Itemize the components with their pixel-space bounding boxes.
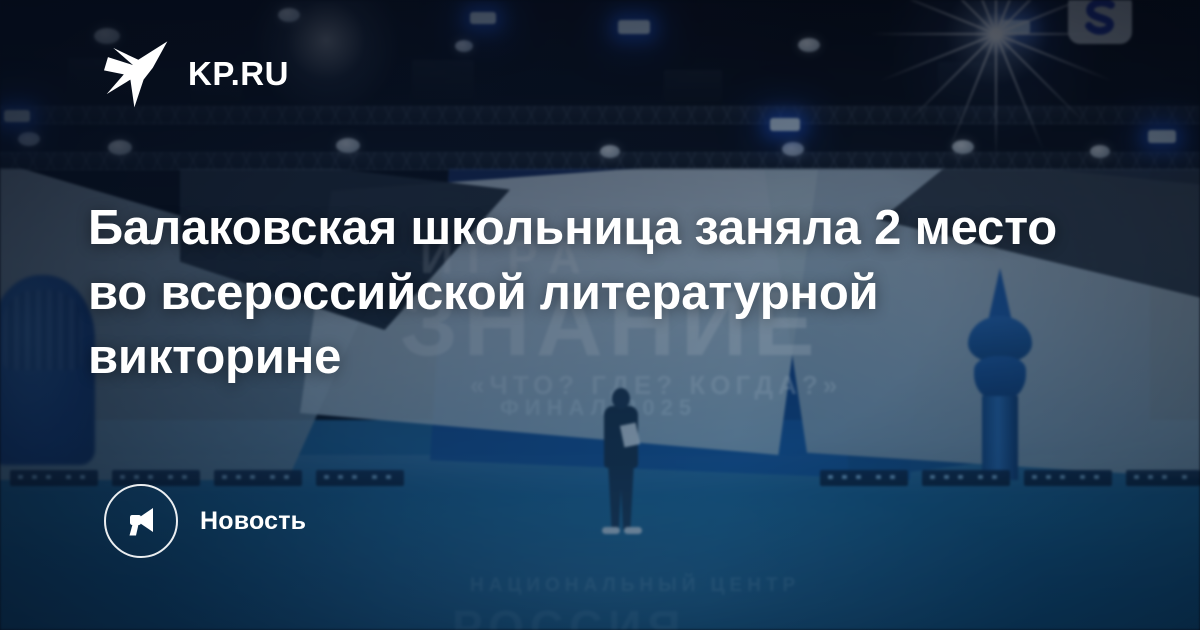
page-title: Балаковская школьница заняла 2 место во …	[88, 196, 1088, 390]
status-badge[interactable]: Новость	[104, 484, 306, 558]
brand-name: KP.RU	[188, 57, 289, 90]
megaphone-icon	[123, 503, 159, 539]
status-badge-label: Новость	[200, 507, 306, 536]
brand-header[interactable]: KP.RU	[104, 38, 289, 108]
share-card: ИГРА ЗНАНИЕ «ЧТО? ГДЕ? КОГДА?» ФИНАЛ 202…	[0, 0, 1200, 630]
swallow-bird-icon	[104, 38, 170, 108]
badge-icon-circle	[104, 484, 178, 558]
